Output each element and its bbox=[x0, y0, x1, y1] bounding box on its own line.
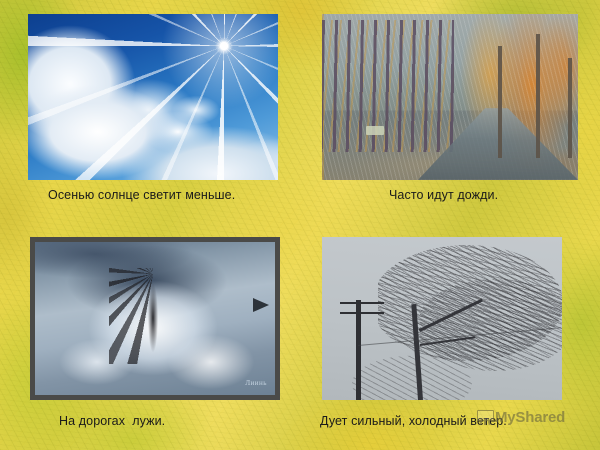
reflected-tree bbox=[109, 268, 195, 364]
caption-rainy-alley: Часто идут дожди. bbox=[389, 188, 498, 202]
wind-blown-canopy-secondary bbox=[420, 279, 562, 371]
tree-trunk bbox=[498, 46, 502, 158]
photo-windy-tree bbox=[322, 237, 562, 400]
utility-pole bbox=[356, 300, 361, 400]
puddle-shore-tip bbox=[253, 298, 269, 312]
tree-row-left bbox=[322, 20, 454, 152]
presentation-slide: Осенью солнце светит меньше. Часто идут … bbox=[0, 0, 600, 450]
caption-puddle: На дорогах лужи. bbox=[59, 414, 165, 428]
photo-sunny-sky bbox=[28, 14, 278, 180]
park-bench bbox=[366, 126, 384, 135]
pole-crossarm bbox=[340, 312, 384, 314]
pole-crossarm bbox=[340, 302, 384, 304]
tree-trunk bbox=[568, 58, 572, 158]
photo-puddle-reflection: Лиинь bbox=[30, 237, 280, 400]
caption-windy-tree: Дует сильный, холодный ветер. bbox=[320, 414, 507, 428]
caption-sunny-sky: Осенью солнце светит меньше. bbox=[48, 188, 235, 202]
photo-signature: Лиинь bbox=[245, 379, 267, 387]
tree-trunk bbox=[536, 34, 540, 158]
photo-rainy-alley bbox=[322, 14, 578, 180]
